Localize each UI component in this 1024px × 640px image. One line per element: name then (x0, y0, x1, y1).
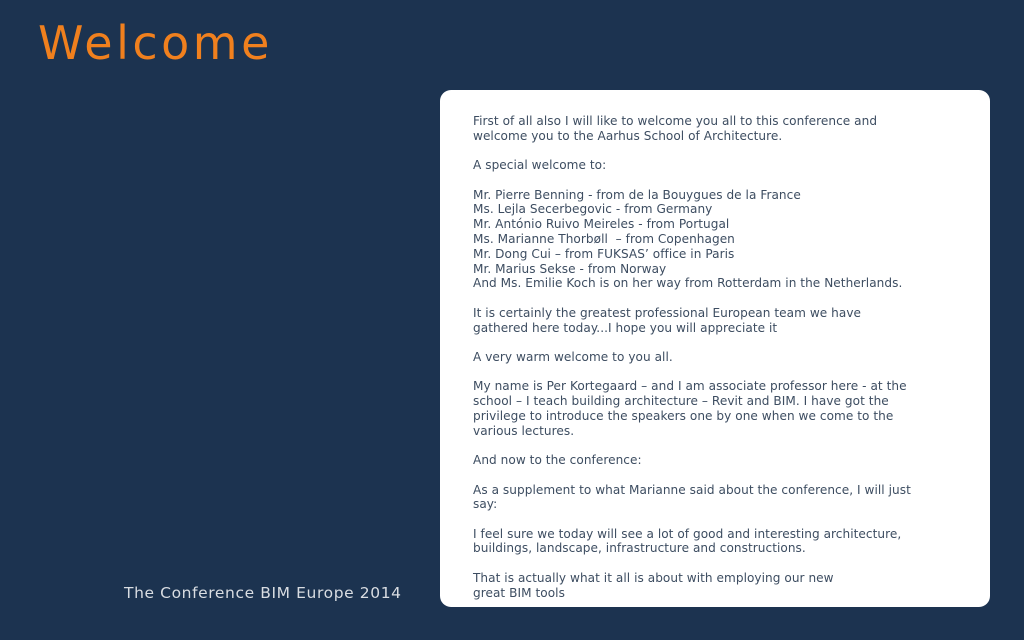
note-paragraph: A very warm welcome to you all. (473, 350, 968, 365)
speaker-notes-body: First of all also I will like to welcome… (473, 114, 968, 600)
note-paragraph: First of all also I will like to welcome… (473, 114, 968, 144)
note-paragraph: And now to the conference: (473, 453, 968, 468)
note-paragraph: It is certainly the greatest professiona… (473, 306, 968, 336)
slide-footer: The Conference BIM Europe 2014 (124, 583, 402, 603)
note-paragraph: I feel sure we today will see a lot of g… (473, 527, 968, 557)
note-paragraph: That is actually what it all is about wi… (473, 571, 968, 601)
speaker-notes-card: First of all also I will like to welcome… (440, 90, 990, 607)
note-paragraph: A special welcome to: (473, 158, 968, 173)
presentation-slide: Welcome First of all also I will like to… (0, 0, 1024, 640)
guest-list: Mr. Pierre Benning - from de la Bouygues… (473, 188, 968, 292)
page-title: Welcome (38, 12, 273, 74)
note-paragraph: My name is Per Kortegaard – and I am ass… (473, 379, 968, 438)
note-paragraph: As a supplement to what Marianne said ab… (473, 483, 968, 513)
